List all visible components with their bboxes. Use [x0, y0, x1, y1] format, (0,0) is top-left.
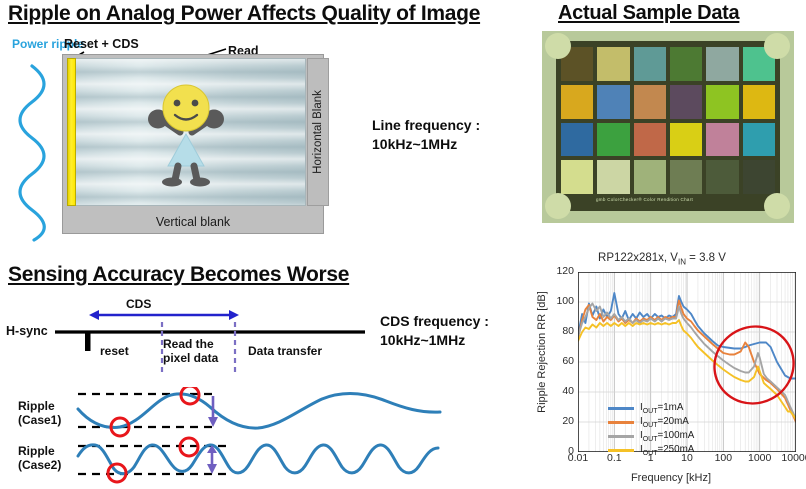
ripple-case1-waveform	[0, 387, 530, 439]
chart-legend: IOUT=1mAIOUT=20mAIOUT=100mAIOUT=250mA	[608, 401, 694, 457]
horizontal-blank-text: Horizontal Blank	[312, 90, 324, 174]
colorchecker-footer-text: gmb ColorChecker® Color Rendition Chart	[596, 197, 756, 202]
ripple-case2-waveform	[0, 434, 530, 489]
color-patch	[706, 123, 738, 157]
legend-label: IOUT=1mA	[640, 402, 683, 415]
timing-diagram: H-sync CDS reset Read the pixel data Dat…	[0, 292, 530, 489]
horizontal-blank-label: Horizontal Blank	[307, 58, 329, 206]
corner-dot-top-right	[764, 33, 790, 59]
chart-y-tick: 120	[546, 265, 574, 277]
slide-root: Ripple on Analog Power Affects Quality o…	[0, 0, 806, 489]
chart-x-tick: 100	[715, 452, 733, 464]
legend-label: IOUT=100mA	[640, 430, 694, 443]
color-patch	[597, 160, 629, 194]
legend-color-swatch	[608, 449, 634, 452]
data-transfer-label: Data transfer	[248, 344, 322, 358]
color-patch	[706, 160, 738, 194]
page-title-sample-data: Actual Sample Data	[558, 2, 739, 25]
chart-y-tick: 100	[546, 295, 574, 307]
legend-label: IOUT=250mA	[640, 444, 694, 457]
vertical-blank-label: Vertical blank	[62, 209, 324, 234]
chart-x-tick: 1000	[748, 452, 771, 464]
corner-dot-bottom-right	[764, 193, 790, 219]
color-patch	[634, 123, 666, 157]
color-patch	[743, 85, 775, 119]
chart-x-tick: 0.01	[568, 452, 588, 464]
chart-legend-item: IOUT=20mA	[608, 415, 694, 429]
chart-legend-item: IOUT=250mA	[608, 443, 694, 457]
color-patch	[743, 160, 775, 194]
power-ripple-waveform-icon	[8, 64, 56, 242]
chart-x-tick: 10000	[781, 452, 806, 464]
color-patch	[743, 123, 775, 157]
color-patch	[597, 85, 629, 119]
chart-y-tick: 40	[546, 385, 574, 397]
legend-color-swatch	[608, 407, 634, 410]
figure-person-icon	[140, 82, 232, 187]
chart-legend-item: IOUT=1mA	[608, 401, 694, 415]
color-patch	[634, 160, 666, 194]
reset-cds-label: Reset + CDS	[64, 37, 139, 51]
color-patch	[670, 47, 702, 81]
corner-dot-top-left	[545, 33, 571, 59]
legend-label: IOUT=20mA	[640, 416, 689, 429]
color-patch	[597, 123, 629, 157]
color-patch	[670, 85, 702, 119]
color-patch	[561, 123, 593, 157]
legend-color-swatch	[608, 435, 634, 438]
cds-span-label: CDS	[126, 297, 151, 311]
color-patch	[597, 47, 629, 81]
sensor-frame-diagram: Power ripple Reset + CDS Read	[0, 32, 530, 242]
reset-cds-bar	[67, 58, 76, 206]
read-pixel-data-label: Read the pixel data	[163, 337, 218, 365]
sample-photo: gmb ColorChecker® Color Rendition Chart	[542, 31, 794, 223]
page-title-sensing-accuracy: Sensing Accuracy Becomes Worse	[8, 263, 349, 287]
chart-x-axis-label: Frequency [kHz]	[546, 472, 796, 484]
cds-frequency-text: CDS frequency : 10kHz~1MHz	[380, 312, 489, 350]
color-patch	[634, 47, 666, 81]
line-frequency-text: Line frequency : 10kHz~1MHz	[372, 116, 480, 154]
legend-color-swatch	[608, 421, 634, 424]
chart-y-tick: 20	[546, 415, 574, 427]
corner-dot-bottom-left	[545, 193, 571, 219]
chart-y-tick: 80	[546, 325, 574, 337]
color-patch	[670, 160, 702, 194]
colorchecker-patch-grid	[561, 47, 775, 194]
reset-phase-label: reset	[100, 344, 129, 358]
color-patch	[670, 123, 702, 157]
color-patch	[561, 85, 593, 119]
chart-y-tick: 60	[546, 355, 574, 367]
color-patch	[634, 85, 666, 119]
color-patch	[561, 160, 593, 194]
chart-legend-item: IOUT=100mA	[608, 429, 694, 443]
color-patch	[706, 47, 738, 81]
colorchecker-chart: gmb ColorChecker® Color Rendition Chart	[556, 41, 780, 211]
ripple-rejection-chart: RP122x281x, VIN = 3.8 V Ripple Rejection…	[518, 250, 806, 489]
page-title-ripple: Ripple on Analog Power Affects Quality o…	[8, 2, 480, 26]
color-patch	[706, 85, 738, 119]
